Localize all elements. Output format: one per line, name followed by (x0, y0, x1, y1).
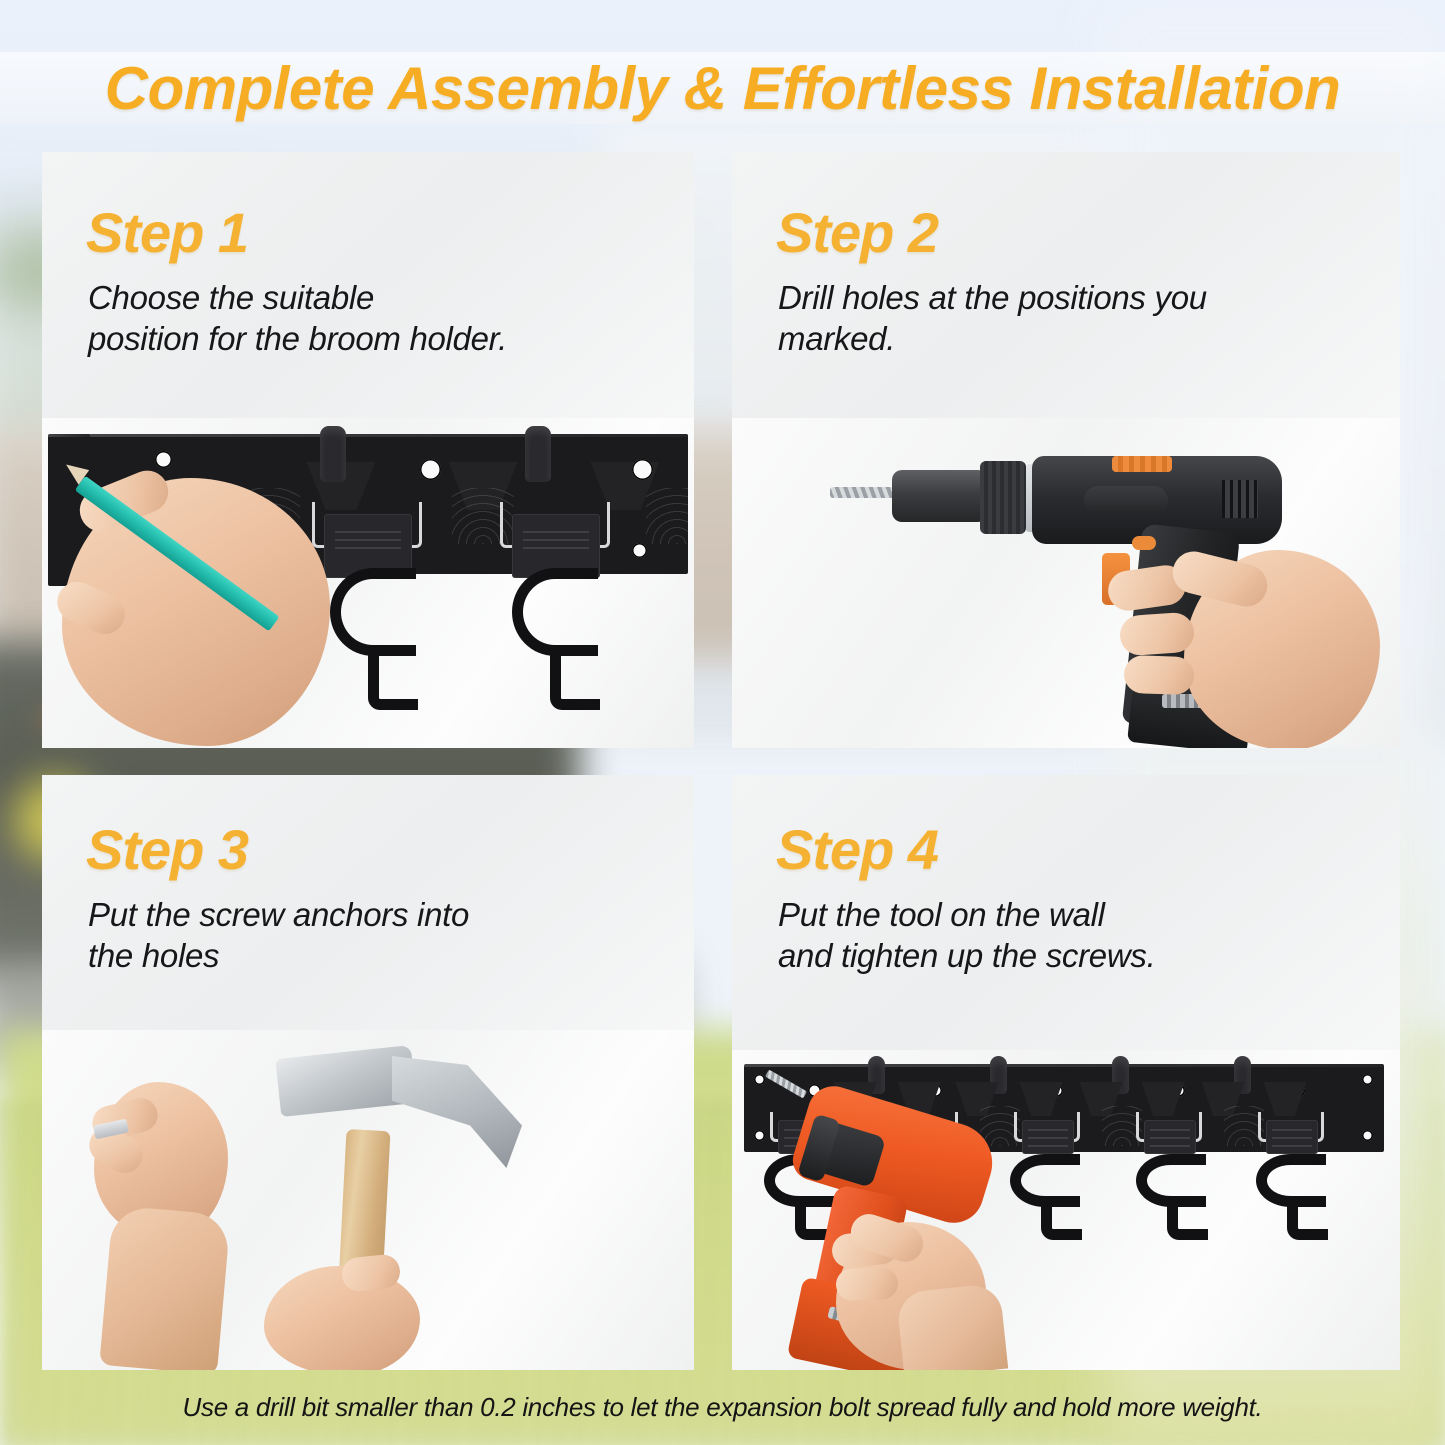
s-hook-curve (1010, 1154, 1080, 1207)
step-3-line-1: Put the screw anchors into (88, 896, 469, 933)
footer-note-bar: Use a drill bit smaller than 0.2 inches … (0, 1370, 1445, 1445)
step-3-description: Put the screw anchors into the holes (88, 895, 672, 977)
rail-screw-hole (420, 459, 441, 480)
step-2-illustration: 13 11 9 (732, 418, 1400, 748)
step-2-heading: Step 2 (776, 200, 938, 265)
drill-torque-collar (980, 461, 1026, 534)
s-hook-tail (1041, 1206, 1082, 1240)
rail-screw-hole (1362, 1130, 1373, 1141)
s-hook (1256, 1154, 1326, 1240)
s-hook-curve (330, 568, 416, 656)
s-hook-curve (512, 568, 598, 656)
tool-clip-body (1144, 1120, 1196, 1154)
rail-screw-hole (155, 451, 172, 468)
step-4-heading: Step 4 (776, 817, 938, 882)
s-hook-tail (1287, 1206, 1328, 1240)
s-hook-tail (368, 653, 418, 710)
step-4-line-2: and tighten up the screws. (778, 937, 1155, 974)
finger (1123, 655, 1194, 695)
finger (1119, 611, 1196, 656)
footer-note: Use a drill bit smaller than 0.2 inches … (183, 1392, 1263, 1423)
forearm (99, 1205, 230, 1370)
s-hook-curve (1256, 1154, 1326, 1207)
drill-bit (830, 487, 900, 498)
step-3-heading: Step 3 (86, 817, 248, 882)
step-3-illustration (42, 1030, 694, 1370)
step-1-description: Choose the suitable position for the bro… (88, 278, 672, 360)
s-hook-curve (1136, 1154, 1206, 1207)
drill-vent-slots (1222, 480, 1258, 518)
page-title: Complete Assembly & Effortless Installat… (105, 54, 1340, 123)
rail-screw-hole (632, 543, 647, 558)
step-1-illustration (42, 418, 694, 748)
step-1-line-1: Choose the suitable (88, 279, 374, 316)
s-hook-tail (1167, 1206, 1208, 1240)
rail-screw-hole (1362, 1074, 1373, 1085)
step-4-illustration (732, 1050, 1400, 1370)
step-1-line-2: position for the broom holder. (88, 320, 507, 357)
rail-screw-hole (632, 459, 653, 480)
step-card-3: Step 3 Put the screw anchors into the ho… (42, 775, 694, 1370)
s-hook (1136, 1154, 1206, 1240)
rail-screw-hole (754, 1074, 765, 1085)
rail-ridges (646, 488, 694, 544)
tool-clip-body (1266, 1120, 1318, 1154)
step-4-line-1: Put the tool on the wall (778, 896, 1105, 933)
drill-chuck (892, 470, 984, 522)
drill-direction-switch (1132, 536, 1156, 550)
step-2-line-2: marked. (778, 320, 895, 357)
title-banner: Complete Assembly & Effortless Installat… (0, 52, 1445, 124)
step-2-line-1: Drill holes at the positions you (778, 279, 1207, 316)
rail-nub (320, 426, 346, 482)
step-card-4: Step 4 Put the tool on the wall and tigh… (732, 775, 1400, 1370)
rail-screw-hole (754, 1130, 765, 1141)
rail-nub (525, 426, 551, 482)
finger (835, 1267, 898, 1301)
step-2-description: Drill holes at the positions you marked. (778, 278, 1378, 360)
step-card-2: Step 2 Drill holes at the positions you … (732, 152, 1400, 748)
drill-logo-plate (1084, 486, 1168, 514)
step-card-1: Step 1 Choose the suitable position for … (42, 152, 694, 748)
step-4-description: Put the tool on the wall and tighten up … (778, 895, 1378, 977)
step-3-line-2: the holes (88, 937, 219, 974)
s-hook-tail (550, 653, 600, 710)
forearm (896, 1283, 1008, 1370)
tool-clip-body (1022, 1120, 1074, 1154)
s-hook (1010, 1154, 1080, 1240)
step-1-heading: Step 1 (86, 200, 248, 265)
s-hook (330, 568, 416, 710)
s-hook (512, 568, 598, 710)
drill-orange-grip-pad (1112, 456, 1172, 472)
